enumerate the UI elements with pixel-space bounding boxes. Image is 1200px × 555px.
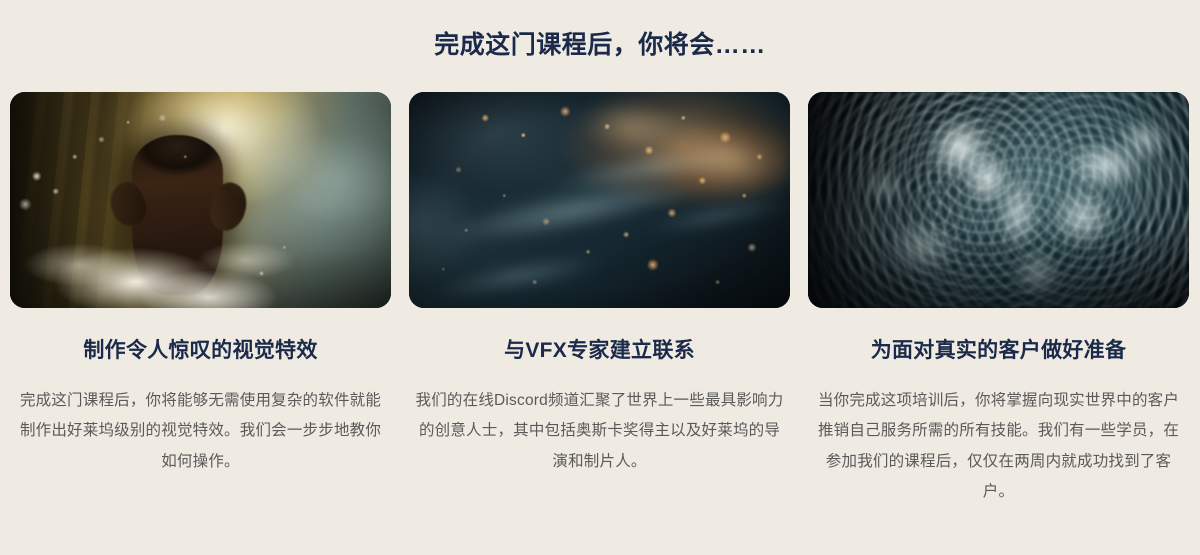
benefit-card-description: 完成这门课程后，你将能够无需使用复杂的软件就能制作出好莱坞级别的视觉特效。我们会… (14, 386, 388, 477)
benefit-card-image (808, 92, 1189, 308)
image-bokeh-highlights (10, 92, 391, 308)
benefit-card-title: 制作令人惊叹的视觉特效 (83, 338, 317, 364)
benefit-card: 制作令人惊叹的视觉特效 完成这门课程后，你将能够无需使用复杂的软件就能制作出好莱… (10, 92, 391, 477)
benefit-card-description: 当你完成这项培训后，你将掌握向现实世界中的客户推销自己服务所需的所有技能。我们有… (812, 386, 1186, 507)
image-vignette (808, 92, 1189, 308)
benefit-card: 与VFX专家建立联系 我们的在线Discord频道汇聚了世界上一些最具影响力的创… (409, 92, 790, 477)
image-vignette (409, 92, 790, 308)
benefit-card-image (409, 92, 790, 308)
section-heading: 完成这门课程后，你将会…… (0, 30, 1200, 60)
benefit-card-title: 为面对真实的客户做好准备 (871, 338, 1127, 364)
benefit-card: 为面对真实的客户做好准备 当你完成这项培训后，你将掌握向现实世界中的客户推销自己… (808, 92, 1189, 507)
benefit-card-image (10, 92, 391, 308)
benefit-card-grid: 制作令人惊叹的视觉特效 完成这门课程后，你将能够无需使用复杂的软件就能制作出好莱… (10, 92, 1190, 507)
benefit-card-description: 我们的在线Discord频道汇聚了世界上一些最具影响力的创意人士，其中包括奥斯卡… (413, 386, 787, 477)
benefit-card-title: 与VFX专家建立联系 (504, 338, 695, 364)
benefits-section: 完成这门课程后，你将会…… 制作令人惊叹的视觉特效 完成这门课程后，你将能够无需… (0, 0, 1200, 555)
